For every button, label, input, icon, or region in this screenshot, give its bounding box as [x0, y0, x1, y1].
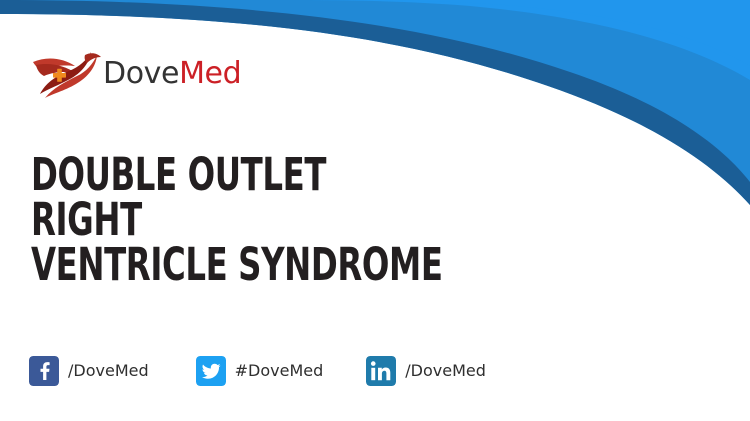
linkedin-icon[interactable] [366, 356, 396, 386]
social-link-linkedin[interactable]: /DoveMed [366, 356, 486, 386]
logo-word-dove: Dove [103, 56, 179, 91]
dovemed-title-card: DoveMed Double Outlet Right Ventricle Sy… [0, 0, 750, 421]
social-links: /DoveMed #DoveMed /DoveMed [29, 356, 486, 386]
logo[interactable]: DoveMed [31, 46, 241, 102]
logo-wordmark: DoveMed [103, 59, 241, 89]
social-handle-twitter: #DoveMed [235, 363, 324, 379]
social-handle-linkedin: /DoveMed [405, 363, 486, 379]
logo-word-med: Med [179, 56, 241, 91]
twitter-icon[interactable] [196, 356, 226, 386]
social-link-facebook[interactable]: /DoveMed [29, 356, 149, 386]
page-title: Double Outlet Right Ventricle Syndrome [31, 152, 447, 287]
social-link-twitter[interactable]: #DoveMed [196, 356, 324, 386]
facebook-icon[interactable] [29, 356, 59, 386]
social-handle-facebook: /DoveMed [68, 363, 149, 379]
dovemed-dove-logo [31, 46, 105, 102]
